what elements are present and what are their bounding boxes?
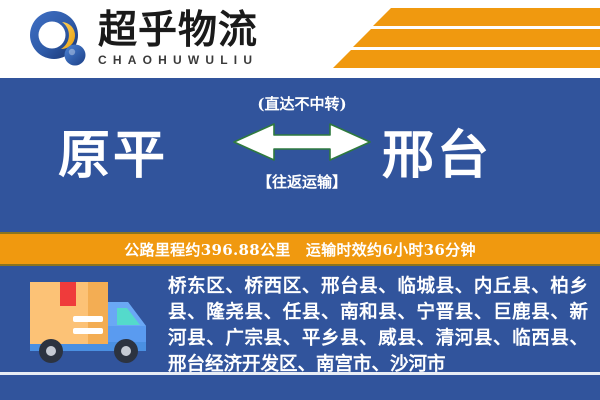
route-panel: 原平 (直达不中转) 【往返运输】 邢台 xyxy=(0,78,600,232)
bottom-blue-strip xyxy=(0,375,600,400)
orange-stripes-decoration xyxy=(295,0,600,72)
banner-header: 超乎物流 CHAOHUWULIU xyxy=(0,0,600,76)
brand-name-pinyin: CHAOHUWULIU xyxy=(98,53,288,67)
route-info-bar: 公路里程约396.88公里 运输时效约6小时36分钟 xyxy=(0,232,600,266)
brand-wordmark: 超乎物流 CHAOHUWULIU xyxy=(98,9,288,69)
logistics-route-banner: 超乎物流 CHAOHUWULIU 原平 (直达不中转) 【往返运输】 邢台 xyxy=(0,0,600,400)
delivery-truck-icon xyxy=(22,280,154,372)
brand-name-cn: 超乎物流 xyxy=(98,9,288,51)
route-arrow-block: (直达不中转) 【往返运输】 xyxy=(232,90,372,222)
origin-city: 原平 xyxy=(58,128,168,184)
roundtrip-note: 【往返运输】 xyxy=(232,173,372,191)
coverage-areas-text: 桥东区、桥西区、邢台县、临城县、内丘县、柏乡县、隆尧县、任县、南和县、宁晋县、巨… xyxy=(168,274,588,378)
direct-shipping-note: (直达不中转) xyxy=(232,95,372,113)
circular-q-logo-icon xyxy=(28,10,90,68)
destination-city: 邢台 xyxy=(382,128,492,184)
double-headed-arrow-icon xyxy=(232,120,372,169)
route-summary-text: 公路里程约396.88公里 运输时效约6小时36分钟 xyxy=(124,239,476,260)
